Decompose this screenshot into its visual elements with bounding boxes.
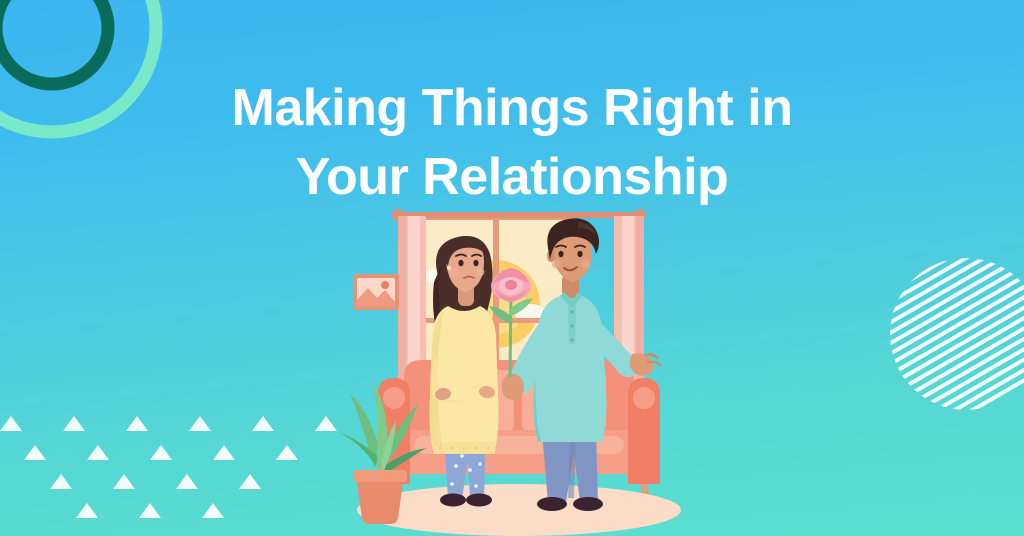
triangle-pattern-decoration — [0, 416, 230, 536]
headline-line-2: Your Relationship — [40, 143, 984, 212]
triangle-icon — [276, 445, 298, 460]
plant-pot — [356, 476, 404, 524]
striped-circle-decoration — [890, 258, 1024, 410]
triangle-icon — [150, 445, 172, 460]
triangle-icon — [63, 416, 85, 431]
triangle-row — [76, 503, 230, 518]
triangle-icon — [139, 503, 161, 518]
man-eye — [577, 251, 582, 257]
banner-headline: Making Things Right in Your Relationship — [0, 74, 1024, 212]
triangle-row — [50, 474, 230, 489]
triangle-icon — [76, 503, 98, 518]
man-hand-rose — [502, 374, 524, 400]
couple-living-room-illustration — [330, 198, 708, 536]
woman-shoe — [440, 494, 466, 507]
triangle-icon — [24, 445, 46, 460]
triangle-icon — [239, 474, 261, 489]
triangle-icon — [252, 416, 274, 431]
floor-rug — [357, 484, 681, 536]
rose-stem — [510, 294, 511, 376]
triangle-icon — [202, 503, 224, 518]
triangle-icon — [0, 416, 22, 431]
triangle-row — [0, 416, 230, 431]
triangle-icon — [113, 474, 135, 489]
triangle-icon — [213, 445, 235, 460]
ring-inner — [0, 0, 108, 84]
woman-shoe — [466, 494, 492, 507]
plant-pot-rim — [353, 470, 407, 482]
triangle-row — [24, 445, 230, 460]
stripe-fill — [890, 258, 1024, 410]
headline-line-1: Making Things Right in — [40, 74, 984, 143]
triangle-icon — [176, 474, 198, 489]
promo-banner: Making Things Right in Your Relationship — [0, 0, 1024, 536]
woman-eye — [458, 260, 463, 266]
triangle-icon — [87, 445, 109, 460]
picture-sun-icon — [381, 281, 389, 289]
man-shoe — [573, 497, 603, 511]
triangle-icon — [126, 416, 148, 431]
man-shoe — [537, 497, 567, 511]
man-eye — [558, 251, 563, 257]
triangle-icon — [50, 474, 72, 489]
wall-picture-frame — [353, 274, 399, 310]
woman-eye — [473, 260, 478, 266]
woman-earring — [447, 266, 451, 270]
triangle-icon — [189, 416, 211, 431]
